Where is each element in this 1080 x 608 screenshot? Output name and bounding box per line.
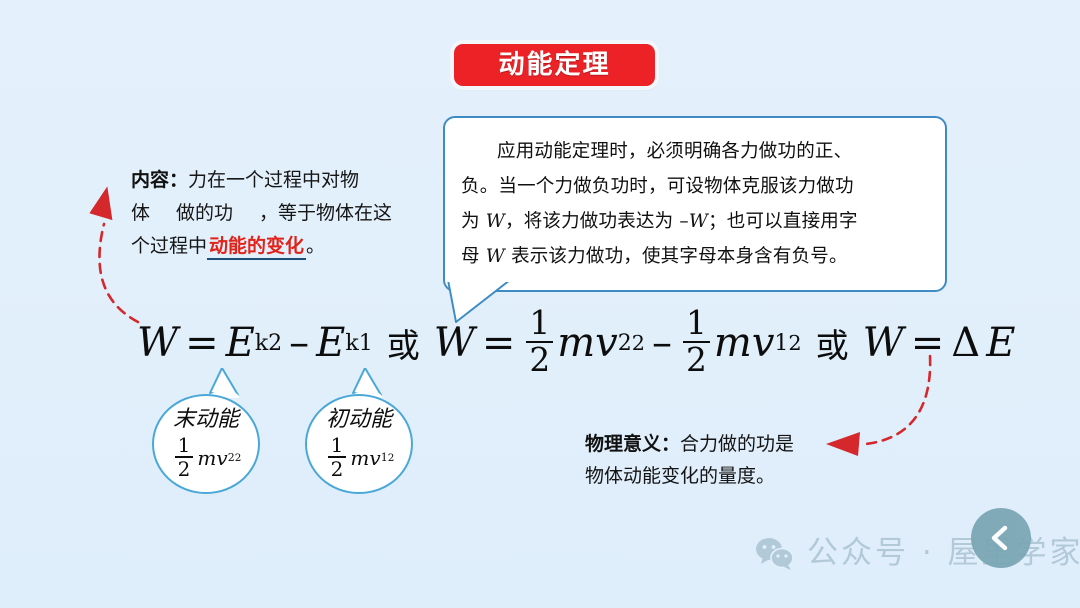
formula2-v-2-sub: 1 <box>774 331 788 356</box>
formula2-half-2: 1 2 <box>683 307 710 377</box>
note-symbol-w-3: W <box>486 246 505 267</box>
note-line-2: 负。当一个力做负功时，可设物体克服该力做功 <box>461 169 929 204</box>
circle-callout-final-ke: 末动能 1 2 mv22 <box>152 394 260 494</box>
formula2-m-2: m <box>714 320 752 366</box>
formula2-m-1: m <box>557 320 595 366</box>
note-symbol-w-2: W <box>689 211 708 232</box>
note-line-3-a: 为 <box>461 211 486 232</box>
content-line-2-a: 体 <box>131 202 150 224</box>
formula1-ek1: E <box>316 320 345 366</box>
formula2-v-1-sub: 2 <box>618 331 632 356</box>
formula1-minus: – <box>289 320 309 366</box>
formula1-w: W <box>137 320 178 366</box>
note-line-3-c: ；也可以直接用字 <box>708 211 858 232</box>
formula-work-energy-1: W = Ek2 – Ek1 <box>137 320 373 366</box>
formula1-ek2: E <box>226 320 255 366</box>
circle-final-half: 1 2 <box>175 435 194 479</box>
circle-initial-formula: 1 2 mv12 <box>324 436 395 480</box>
formula2-v-2: v <box>752 320 775 366</box>
circle-final-m: m <box>197 446 216 470</box>
note-line-1: 应用动能定理时，必须明确各力做功的正、 <box>461 134 929 169</box>
circle-initial-v: v <box>369 446 380 470</box>
content-line-3: 个过程中动能的变化。 <box>131 230 416 263</box>
formula2-half-1: 1 2 <box>526 307 553 377</box>
content-line-2-c: ，等于物体在这 <box>259 202 392 224</box>
circle-initial-label: 初动能 <box>326 408 392 432</box>
formula2-minus: – <box>652 320 672 366</box>
formula2-half-1-den: 2 <box>526 341 553 377</box>
formula2-v-1: v <box>595 320 618 366</box>
circle-final-half-den: 2 <box>175 456 194 479</box>
formula2-half-2-den: 2 <box>683 341 710 377</box>
formula1-ek1-sub: k1 <box>345 331 372 356</box>
chevron-left-icon <box>986 523 1016 553</box>
formula2-v-2-sup: 2 <box>788 331 801 355</box>
circle-callout-initial-ke: 初动能 1 2 mv12 <box>305 394 413 494</box>
content-highlight-kinetic-energy-change: 动能的变化 <box>207 235 306 260</box>
note-line-3-b: ，将该力做功表达为 – <box>505 211 689 232</box>
meaning-line-1: 物理意义：合力做的功是 <box>585 428 885 460</box>
formula3-equals: = <box>911 320 945 366</box>
physical-meaning-block: 物理意义：合力做的功是 物体动能变化的量度。 <box>585 428 885 492</box>
formula2-w: W <box>434 320 475 366</box>
back-button[interactable] <box>971 508 1031 568</box>
note-line-3: 为 W，将该力做功表达为 –W；也可以直接用字 <box>461 204 929 239</box>
formula-work-energy-2: W = 1 2 mv22 – 1 2 mv12 <box>434 308 802 378</box>
circle-initial-half-num: 1 <box>328 435 347 456</box>
circle-final-v-sup: 2 <box>235 452 242 464</box>
content-definition-block: 内容：力在一个过程中对物 体做的功，等于物体在这 个过程中动能的变化。 <box>131 164 416 263</box>
circle-initial-v-sup: 2 <box>388 452 395 464</box>
circle-final-formula: 1 2 mv22 <box>171 436 242 480</box>
note-symbol-w-1: W <box>486 211 505 232</box>
formula1-equals: = <box>185 320 219 366</box>
circle-initial-m: m <box>350 446 369 470</box>
formula-separator-or-2: 或 <box>816 319 849 367</box>
content-line-3-end: 。 <box>306 235 325 257</box>
circle-final-half-num: 1 <box>175 435 194 456</box>
formula-separator-or-1: 或 <box>387 319 420 367</box>
meaning-line-2: 物体动能变化的量度。 <box>585 460 885 492</box>
content-line-2: 体做的功，等于物体在这 <box>131 197 416 230</box>
note-line-4-b: 表示该力做功，使其字母本身含有负号。 <box>505 246 848 267</box>
watermark: 公众号 · 屋里学家 <box>755 536 1080 570</box>
slide-title-banner: 动能定理 <box>454 44 655 86</box>
formula3-e: E <box>986 320 1015 366</box>
formula2-v-1-sup: 2 <box>632 331 645 355</box>
formula-row: W = Ek2 – Ek1 或 W = 1 2 mv22 – 1 2 mv12 … <box>137 310 967 376</box>
formula2-equals: = <box>482 320 516 366</box>
slide-canvas: 动能定理 内容：力在一个过程中对物 体做的功，等于物体在这 个过程中动能的变化。… <box>0 0 1080 608</box>
circle-initial-half-den: 2 <box>328 456 347 479</box>
content-line-1: 内容：力在一个过程中对物 <box>131 164 416 197</box>
circle-initial-half: 1 2 <box>328 435 347 479</box>
formula3-w: W <box>863 320 904 366</box>
content-line-2-b: 做的功 <box>176 202 233 224</box>
note-line-4-a: 母 <box>461 246 486 267</box>
note-line-4: 母 W 表示该力做功，使其字母本身含有负号。 <box>461 239 929 274</box>
formula2-half-1-num: 1 <box>526 307 553 341</box>
watermark-text: 公众号 · 屋里学家 <box>807 538 1080 569</box>
circle-final-v: v <box>216 446 227 470</box>
content-line-1-text: 力在一个过程中对物 <box>188 169 359 191</box>
circle-initial-v-sub: 1 <box>381 451 388 464</box>
formula-work-energy-3: W = ΔE <box>863 320 1016 366</box>
formula3-delta: Δ <box>951 320 980 366</box>
content-label: 内容： <box>131 169 188 191</box>
circle-final-v-sub: 2 <box>228 451 235 464</box>
wechat-icon <box>755 536 795 570</box>
formula2-half-2-num: 1 <box>683 307 710 341</box>
meaning-line-1-text: 合力做的功是 <box>680 433 794 455</box>
page-title: 动能定理 <box>498 52 610 78</box>
circle-final-label: 末动能 <box>173 408 239 432</box>
meaning-label: 物理意义： <box>585 433 680 455</box>
formula1-ek2-sub: k2 <box>255 331 282 356</box>
content-line-3-a: 个过程中 <box>131 235 207 257</box>
note-callout-box: 应用动能定理时，必须明确各力做功的正、 负。当一个力做负功时，可设物体克服该力做… <box>443 116 947 292</box>
